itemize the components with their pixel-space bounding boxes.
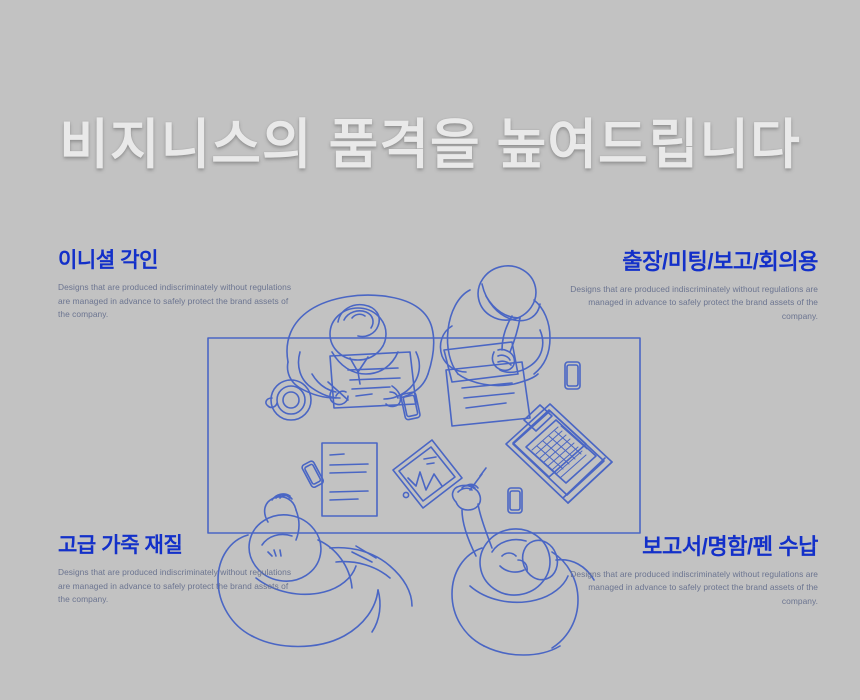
- feature-body: Designs that are produced indiscriminate…: [58, 566, 296, 607]
- feature-heading: 보고서/명함/펜 수납: [568, 533, 818, 561]
- feature-premium-leather: 고급 가죽 재질 Designs that are produced indis…: [58, 533, 296, 607]
- smartphone-a: [400, 392, 420, 421]
- document-center-left: [322, 443, 377, 516]
- coffee-cup: [266, 380, 311, 420]
- person-top-right-reading: [440, 261, 550, 426]
- smartphone-c: [301, 460, 324, 488]
- feature-business-trip-meeting: 출장/미팅/보고/회의용 Designs that are produced i…: [568, 248, 818, 323]
- laptop: [506, 404, 612, 503]
- feature-body: Designs that are produced indiscriminate…: [58, 281, 296, 322]
- feature-body: Designs that are produced indiscriminate…: [568, 568, 818, 609]
- poster-canvas: 비지니스의 품격을 높여드립니다 이니셜 각인 Designs that are…: [0, 0, 860, 700]
- page-title: 비지니스의 품격을 높여드립니다: [0, 114, 860, 176]
- feature-heading: 고급 가죽 재질: [58, 533, 296, 559]
- smartphone-d: [508, 488, 522, 513]
- feature-heading: 이니셜 각인: [58, 248, 296, 274]
- feature-report-card-pen-storage: 보고서/명함/펜 수납 Designs that are produced in…: [568, 533, 818, 608]
- feature-initial-engraving: 이니셜 각인 Designs that are produced indiscr…: [58, 248, 296, 322]
- feature-heading: 출장/미팅/보고/회의용: [568, 248, 818, 276]
- tablet-with-chart: [393, 440, 462, 508]
- person-top-left-writing: [287, 295, 434, 408]
- meeting-table: [208, 338, 640, 533]
- smartphone-b: [565, 362, 580, 389]
- feature-body: Designs that are produced indiscriminate…: [568, 283, 818, 324]
